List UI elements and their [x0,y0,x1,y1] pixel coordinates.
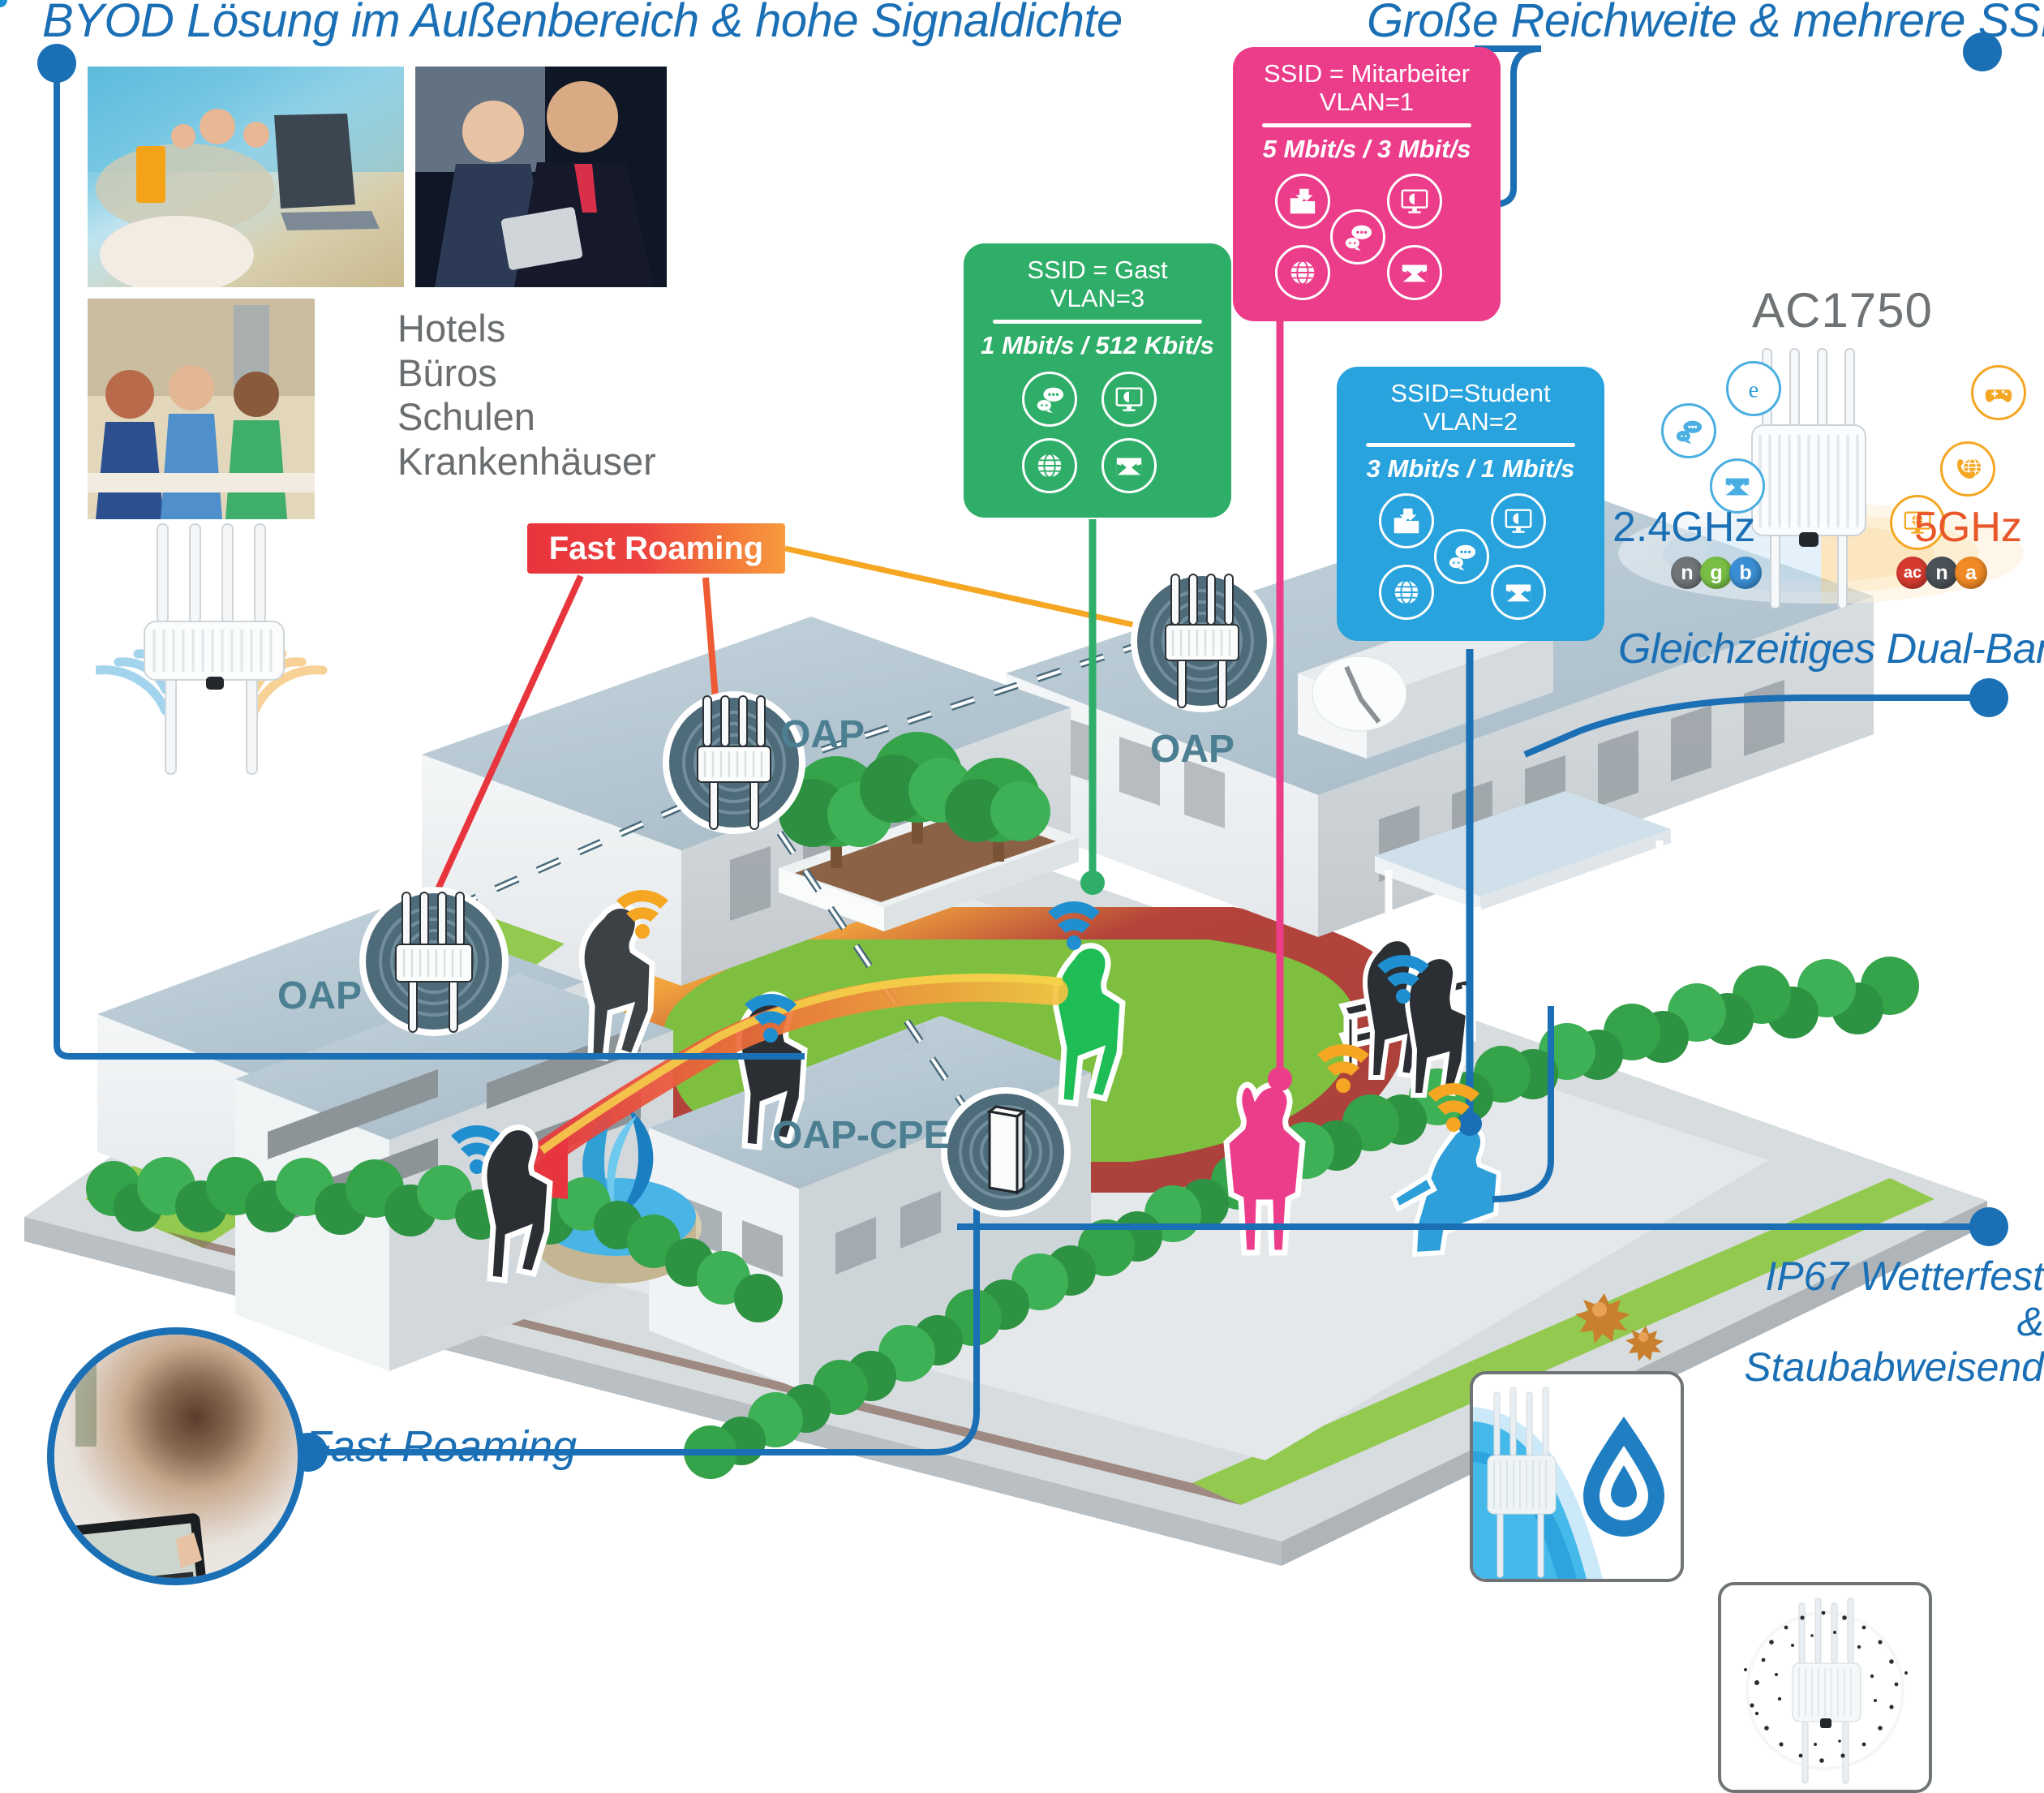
ssid-service-icons [1241,167,1492,305]
fast-roaming-badge[interactable]: Fast Roaming [527,523,785,574]
standard-badge-n: n [1671,557,1703,589]
use-case-item: Büros [397,351,656,396]
fast-roaming-callout-label: Fast Roaming [304,1421,577,1472]
label-ip67: IP67 Wetterfest & Staubabweisend [1715,1253,2044,1390]
band-label-24ghz: 2.4GHz [1612,503,1755,552]
globe-icon [1022,438,1077,493]
media-play-icon [1101,372,1157,427]
oap-label-mid: OAP [780,712,865,757]
standard-badge-a: a [1955,557,1987,589]
ssid-vlan: VLAN=2 [1345,408,1596,436]
svg-text:e: e [1749,377,1759,402]
use-case-item: Hotels [397,307,656,351]
ssid-vlan: VLAN=1 [1241,88,1492,117]
fast-roaming-photo-callout [47,1327,305,1585]
divider [1262,123,1471,127]
photo-students-byod [88,299,315,519]
media-play-icon [1387,174,1442,229]
ap-marker-oap-right[interactable] [1121,560,1283,722]
chat-icon [1022,372,1077,427]
ssid-card-gast[interactable]: SSID = Gast VLAN=3 1 Mbit/s / 512 Kbit/s [964,243,1231,518]
oap-label-right: OAP [1150,727,1235,772]
standard-badge-n: n [1926,557,1958,589]
mail-icon [1491,565,1546,620]
ssid-rate: 3 Mbit/s / 1 Mbit/s [1345,454,1596,484]
photo-pool-byod [88,67,404,287]
use-case-list: Hotels Büros Schulen Krankenhäuser [397,307,656,484]
ap-marker-oap-cpe[interactable] [933,1079,1079,1225]
standards-5ghz: ac n a [1896,557,1984,589]
ssid-name: SSID=Student [1345,380,1596,408]
standard-badge-b: b [1729,557,1762,589]
chat-icon [1330,209,1385,264]
photo-business-byod [415,67,667,287]
globe-icon [1275,245,1330,300]
oap-label-left: OAP [277,974,362,1018]
label-dual-band: Gleichzeitiges Dual-Band [1618,625,2044,673]
ssid-name: SSID = Gast [972,256,1223,285]
globe-icon [1379,565,1434,620]
divider [993,320,1202,324]
ssid-service-icons [1345,487,1596,625]
mail-icon [1387,245,1442,300]
heading-byod: BYOD Lösung im Außenbereich & hohe Signa… [42,0,1123,48]
mail-icon [1101,438,1157,493]
chat-icon [1661,403,1716,458]
ssid-name: SSID = Mitarbeiter [1241,60,1492,88]
ip67-waterproof-panel [1470,1371,1684,1582]
ssid-card-mitarbeiter[interactable]: SSID = Mitarbeiter VLAN=1 5 Mbit/s / 3 M… [1233,47,1501,321]
dust-splat-icon [1572,1292,1677,1365]
media-play-icon [1491,493,1546,548]
ssid-rate: 5 Mbit/s / 3 Mbit/s [1241,135,1492,164]
heading-reichweite: Große Reichweite & mehrere SSIDs [1367,0,2044,48]
label-ac1750: AC1750 [1752,282,1933,338]
browser-e-icon: e [1726,361,1781,416]
chat-icon [1434,529,1489,584]
ip67-line-2: & Staubabweisend [1715,1299,2044,1390]
gamepad-icon [1971,365,2026,420]
standards-24ghz: n g b [1671,557,1758,589]
oap-cpe-label: OAP-CPE [772,1113,950,1158]
band-label-5ghz: 5GHz [1914,503,2022,552]
ip67-line-1: IP67 Wetterfest [1715,1253,2044,1299]
ap-marker-oap-mid[interactable] [653,682,815,844]
ssid-rate: 1 Mbit/s / 512 Kbit/s [972,331,1223,360]
file-transfer-icon [1275,174,1330,229]
standard-badge-ac: ac [1896,557,1929,589]
ssid-card-student[interactable]: SSID=Student VLAN=2 3 Mbit/s / 1 Mbit/s [1337,367,1604,641]
voip-globe-icon [1940,441,1995,497]
divider [1366,443,1575,447]
access-point-hero-left [96,516,339,792]
ip67-dustproof-panel [1718,1582,1932,1793]
ssid-service-icons [972,363,1223,501]
use-case-item: Schulen [397,395,656,440]
file-transfer-icon [1379,493,1434,548]
standard-badge-g: g [1700,557,1733,589]
ssid-vlan: VLAN=3 [972,285,1223,313]
use-case-item: Krankenhäuser [397,440,656,484]
ap-marker-oap-left[interactable] [349,876,519,1047]
